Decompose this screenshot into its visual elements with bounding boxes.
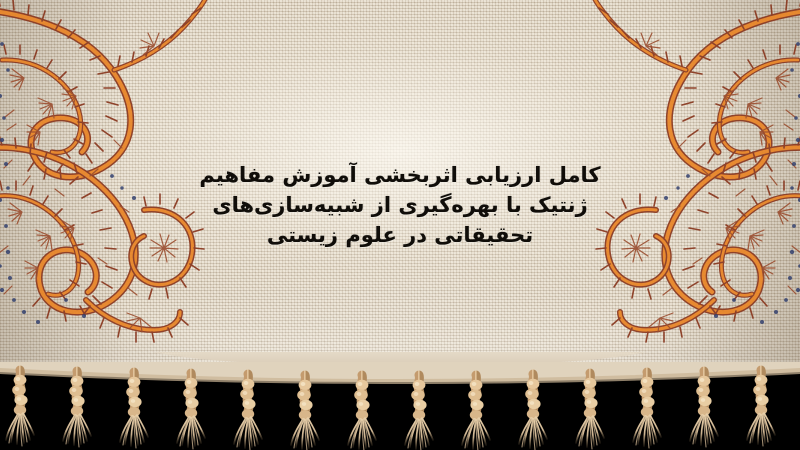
slide-canvas: کامل ارزیابی اثربخشی آموزش مفاهیم ژنتیک … (0, 0, 800, 450)
paisley-embroidery-left-icon (0, 0, 244, 350)
knotted-tassel-fringe-icon (0, 362, 800, 450)
paisley-embroidery-right-icon (556, 0, 800, 350)
